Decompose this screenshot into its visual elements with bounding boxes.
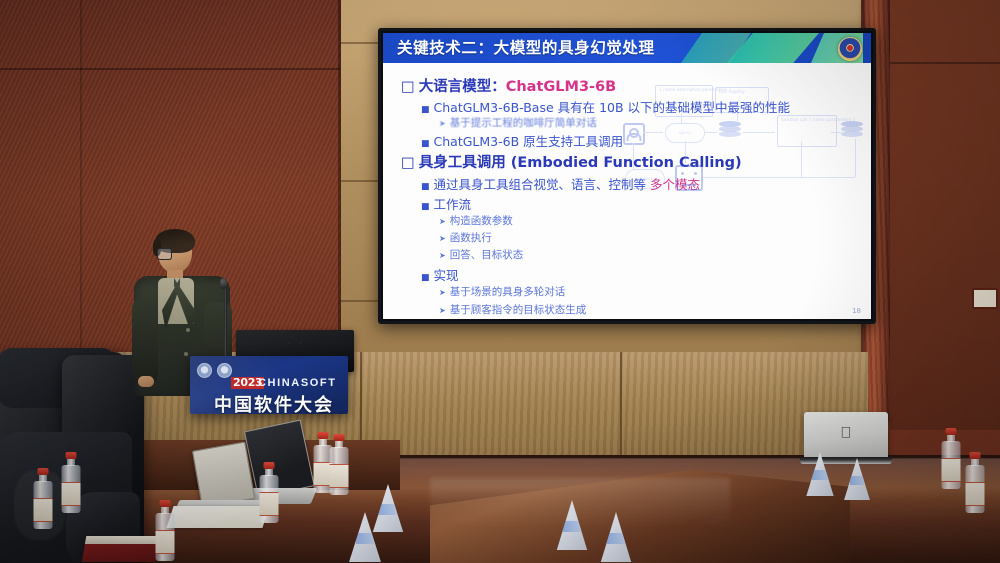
presentation-screen: 关键技术二：大模型的具身幻觉处理 大语言模型：ChatGLM3-6B ChatG… bbox=[378, 28, 876, 324]
laptop-screen bbox=[192, 442, 255, 508]
presenter-hand bbox=[138, 376, 154, 387]
bullet-text: 函数执行 bbox=[450, 232, 492, 244]
slide-bullet: 函数执行 bbox=[439, 230, 492, 245]
water-bottle[interactable] bbox=[938, 428, 964, 490]
placard-face bbox=[552, 500, 592, 550]
slide-diagram: { name description parameters } tool reg… bbox=[619, 85, 869, 203]
organization-logo-icon bbox=[217, 363, 232, 378]
podium-logos bbox=[197, 363, 232, 378]
diagram-connector bbox=[705, 132, 717, 133]
diagram-connector bbox=[737, 107, 738, 121]
diagram-connector bbox=[633, 143, 634, 169]
bullet-text: 大语言模型： bbox=[419, 79, 506, 95]
diagram-connector bbox=[743, 132, 775, 133]
answer-cloud-icon: answer bbox=[625, 169, 665, 189]
diagram-label-box: { name description parameters } bbox=[655, 85, 713, 117]
query-cloud-icon: query bbox=[665, 123, 705, 143]
diagram-label-box: function call { name parameters } bbox=[777, 115, 837, 147]
notebook bbox=[82, 536, 161, 562]
bullet-text: 基于提示工程的咖啡厅简单对话 bbox=[450, 117, 597, 129]
name-placard[interactable] bbox=[552, 500, 592, 550]
water-bottle[interactable] bbox=[962, 452, 988, 514]
bullet-filled-square-icon bbox=[421, 177, 430, 192]
slide-bullet: ChatGLM3-6B 原生支持工具调用 bbox=[421, 131, 623, 150]
placard-face bbox=[596, 512, 636, 562]
placard-face bbox=[802, 452, 838, 496]
bullet-arrow-icon bbox=[439, 249, 446, 261]
bottle-label bbox=[942, 458, 961, 482]
bottle-label bbox=[330, 464, 349, 488]
bullet-filled-square-icon bbox=[421, 134, 430, 149]
slide-bullet: 实现 bbox=[421, 265, 459, 284]
jacket-button bbox=[184, 352, 188, 356]
slide-bullet: 基于顾客指令的目标状态生成 bbox=[439, 302, 586, 317]
diagram-connector bbox=[685, 141, 686, 165]
bullet-text: 构造函数参数 bbox=[450, 215, 513, 227]
database-icon bbox=[841, 121, 863, 139]
screen-bezel-inner: 关键技术二：大模型的具身幻觉处理 大语言模型：ChatGLM3-6B ChatG… bbox=[381, 31, 873, 321]
presenter-arm bbox=[132, 298, 158, 384]
wainscot-seam bbox=[620, 352, 622, 462]
microphone-stand bbox=[224, 286, 227, 360]
name-placard[interactable] bbox=[840, 458, 874, 500]
bullet-text: 基于顾客指令的目标状态生成 bbox=[450, 304, 587, 316]
water-bottle[interactable] bbox=[326, 434, 352, 496]
bullet-arrow-icon bbox=[439, 117, 446, 129]
bottle-cap bbox=[946, 428, 957, 435]
slide-bullet: 工作流 bbox=[421, 194, 471, 213]
bottle-label bbox=[260, 492, 279, 516]
bullet-text: 通过具身工具组合视觉、语言、控制等 bbox=[434, 177, 650, 192]
diagram-connector bbox=[855, 139, 856, 177]
bottle-cap bbox=[264, 462, 275, 469]
slide-header-band: 关键技术二：大模型的具身幻觉处理 bbox=[383, 33, 871, 63]
wall-seam bbox=[0, 68, 340, 70]
bottle-cap bbox=[66, 452, 77, 459]
bullet-arrow-icon bbox=[439, 304, 446, 316]
bottle-label bbox=[62, 482, 81, 506]
bullet-text: 实现 bbox=[434, 268, 459, 283]
bottle-label bbox=[966, 482, 985, 506]
robot-icon bbox=[675, 165, 703, 191]
slide-bullet: 大语言模型：ChatGLM3-6B bbox=[401, 75, 616, 96]
bottle-cap bbox=[160, 500, 171, 507]
bullet-square-icon bbox=[401, 155, 415, 171]
slide-surface: 关键技术二：大模型的具身幻觉处理 大语言模型：ChatGLM3-6B ChatG… bbox=[383, 33, 871, 319]
bottle-cap bbox=[334, 434, 345, 441]
wall-seam bbox=[890, 62, 1000, 64]
podium-brand: CHINASOFT bbox=[258, 377, 337, 389]
bottle-label bbox=[34, 498, 53, 522]
bullet-filled-square-icon bbox=[421, 268, 430, 283]
bullet-arrow-icon bbox=[439, 215, 446, 227]
slide-bullet: 基于场景的具身多轮对话 bbox=[439, 284, 565, 299]
water-bottle[interactable] bbox=[30, 468, 56, 530]
bullet-text: 工作流 bbox=[434, 197, 472, 212]
apple-logo-icon:  bbox=[840, 426, 851, 441]
name-placard[interactable] bbox=[344, 512, 386, 562]
university-emblem-icon bbox=[838, 37, 862, 61]
organization-logo-icon bbox=[197, 363, 212, 378]
diagram-connector bbox=[703, 177, 855, 178]
eyeglasses-icon bbox=[157, 248, 193, 258]
document-papers bbox=[166, 506, 269, 528]
bullet-highlight: ChatGLM3-6B bbox=[506, 79, 617, 95]
diagram-connector bbox=[643, 132, 663, 133]
bullet-arrow-icon bbox=[439, 232, 446, 244]
bullet-text: 回答、目标状态 bbox=[450, 249, 524, 261]
jacket-button bbox=[186, 328, 190, 332]
diagram-connector bbox=[831, 132, 841, 133]
bullet-text: 基于场景的具身多轮对话 bbox=[450, 286, 566, 298]
bullet-text: ChatGLM3-6B 原生支持工具调用 bbox=[434, 134, 624, 149]
slide-bullet: 回答、目标状态 bbox=[439, 247, 523, 262]
bullet-filled-square-icon bbox=[421, 197, 430, 212]
water-bottle[interactable] bbox=[152, 500, 178, 562]
diagram-connector bbox=[801, 141, 802, 177]
slide-bullet: 构造函数参数 bbox=[439, 213, 513, 228]
podium-sign: 2023 CHINASOFT 中国软件大会 bbox=[190, 356, 348, 414]
user-face-icon bbox=[623, 123, 645, 145]
wall-panel-right bbox=[890, 0, 1000, 430]
bullet-square-icon bbox=[401, 79, 415, 95]
conference-room-photo: 关键技术二：大模型的具身幻觉处理 大语言模型：ChatGLM3-6B ChatG… bbox=[0, 0, 1000, 563]
slide-title: 关键技术二：大模型的具身幻觉处理 bbox=[397, 35, 655, 61]
slide-bullet: 基于提示工程的咖啡厅简单对话 bbox=[439, 115, 597, 130]
database-icon bbox=[719, 121, 741, 139]
podium-chinese-name: 中国软件大会 bbox=[214, 391, 334, 414]
bullet-filled-square-icon bbox=[421, 100, 430, 115]
bottle-cap bbox=[970, 452, 981, 459]
placard-face bbox=[344, 512, 386, 562]
bottle-label bbox=[156, 530, 175, 554]
bullet-arrow-icon bbox=[439, 286, 446, 298]
bottle-cap bbox=[38, 468, 49, 475]
microphone-icon bbox=[220, 278, 227, 289]
water-bottle[interactable] bbox=[58, 452, 84, 514]
name-placard[interactable] bbox=[596, 512, 636, 562]
water-bottle[interactable] bbox=[256, 462, 282, 524]
diagram-label-box: tool registry bbox=[715, 87, 769, 113]
slide-page-number: 18 bbox=[852, 307, 861, 315]
wall-seam bbox=[80, 0, 82, 360]
placard-face bbox=[840, 458, 874, 500]
slide-body: 大语言模型：ChatGLM3-6B ChatGLM3-6B-Base 具有在 1… bbox=[383, 63, 871, 319]
name-placard[interactable] bbox=[802, 452, 838, 496]
diagram-connector bbox=[681, 113, 682, 123]
wall-switch-plate[interactable] bbox=[972, 288, 998, 309]
